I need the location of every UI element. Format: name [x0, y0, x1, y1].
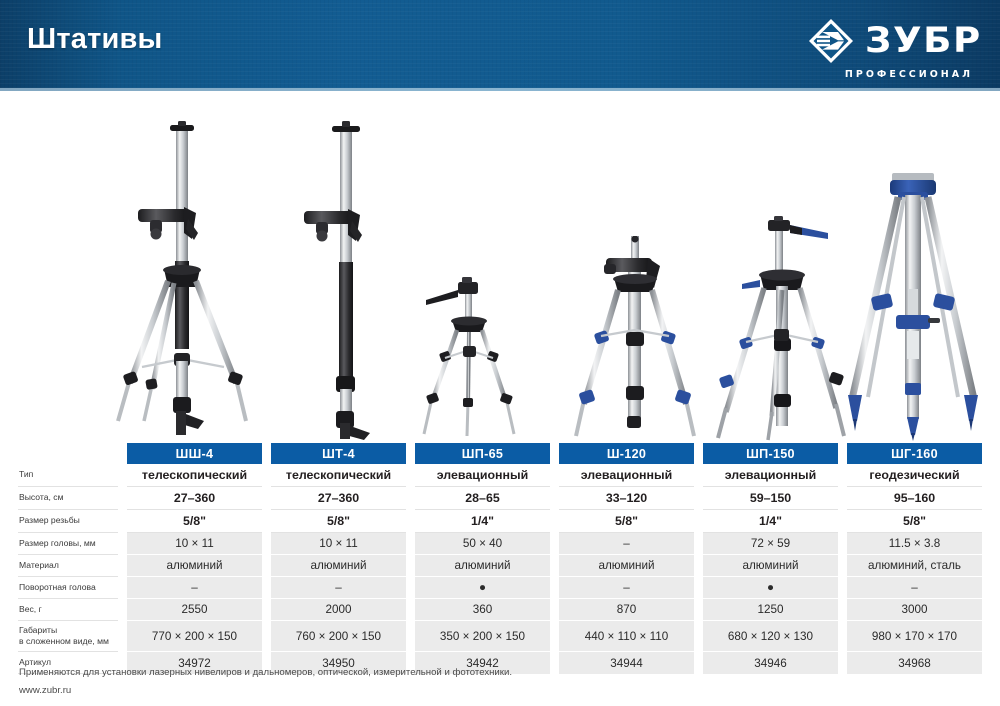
- cell-height-2: 28–65: [415, 487, 550, 510]
- cell-folded-4: 680 × 120 × 130: [703, 621, 838, 652]
- cell-height-3: 33–120: [559, 487, 694, 510]
- cell-thread-2: 1/4": [415, 510, 550, 533]
- cell-folded-0: 770 × 200 × 150: [127, 621, 262, 652]
- header-corner-blank: [18, 443, 118, 464]
- table-row-type: Тип телескопический телескопический элев…: [18, 464, 982, 487]
- cell-weight-5: 3000: [847, 599, 982, 621]
- cell-type-1: телескопический: [271, 464, 406, 487]
- cell-type-0: телескопический: [127, 464, 262, 487]
- cell-rothead-4: ●: [703, 577, 838, 599]
- cell-material-1: алюминий: [271, 555, 406, 577]
- footer-url[interactable]: www.zubr.ru: [19, 682, 959, 700]
- product-image-shp150: [716, 216, 846, 441]
- brand-logo: ЗУБР ПРОФЕССИОНАЛ: [808, 18, 975, 80]
- cell-headsize-0: 10 × 11: [127, 533, 262, 555]
- footer: Применяются для установки лазерных нивел…: [19, 664, 959, 700]
- cell-height-4: 59–150: [703, 487, 838, 510]
- page-title: Штативы: [27, 23, 163, 56]
- logo-tagline: ПРОФЕССИОНАЛ: [845, 69, 973, 80]
- column-header-1[interactable]: ШТ-4: [271, 443, 406, 464]
- table-row-height: Высота, см 27–360 27–360 28–65 33–120 59…: [18, 487, 982, 510]
- cell-material-2: алюминий: [415, 555, 550, 577]
- row-label-type: Тип: [18, 464, 118, 487]
- product-image-shsh4: [112, 121, 252, 441]
- column-header-2[interactable]: ШП-65: [415, 443, 550, 464]
- product-image-strip: [0, 91, 1000, 441]
- row-label-weight: Вес, г: [18, 599, 118, 621]
- product-image-shp65: [418, 276, 524, 441]
- cell-headsize-2: 50 × 40: [415, 533, 550, 555]
- cell-rothead-2: ●: [415, 577, 550, 599]
- logo-wordmark: ЗУБР: [865, 24, 982, 59]
- cell-material-5: алюминий, сталь: [847, 555, 982, 577]
- cell-headsize-4: 72 × 59: [703, 533, 838, 555]
- cell-folded-3: 440 × 110 × 110: [559, 621, 694, 652]
- cell-thread-0: 5/8": [127, 510, 262, 533]
- cell-weight-0: 2550: [127, 599, 262, 621]
- cell-material-4: алюминий: [703, 555, 838, 577]
- row-label-thread-size: Размер резьбы: [18, 510, 118, 533]
- cell-weight-4: 1250: [703, 599, 838, 621]
- table-header-row: ШШ-4 ШТ-4 ШП-65 Ш-120 ШП-150 ШГ-160: [18, 443, 982, 464]
- row-label-material: Материал: [18, 555, 118, 577]
- cell-weight-2: 360: [415, 599, 550, 621]
- cell-rothead-0: –: [127, 577, 262, 599]
- row-label-folded-dimensions: Габариты в сложенном виде, мм: [18, 621, 118, 652]
- cell-headsize-5: 11.5 × 3.8: [847, 533, 982, 555]
- row-label-height: Высота, см: [18, 487, 118, 510]
- product-image-shg160: [838, 169, 988, 441]
- table-row-folded-dimensions: Габариты в сложенном виде, мм 770 × 200 …: [18, 621, 982, 652]
- cell-thread-3: 5/8": [559, 510, 694, 533]
- cell-material-0: алюминий: [127, 555, 262, 577]
- cell-weight-3: 870: [559, 599, 694, 621]
- cell-headsize-1: 10 × 11: [271, 533, 406, 555]
- column-header-4[interactable]: ШП-150: [703, 443, 838, 464]
- cell-type-5: геодезический: [847, 464, 982, 487]
- row-label-head-size: Размер головы, мм: [18, 533, 118, 555]
- column-header-5[interactable]: ШГ-160: [847, 443, 982, 464]
- cell-thread-4: 1/4": [703, 510, 838, 533]
- table-row-thread-size: Размер резьбы 5/8" 5/8" 1/4" 5/8" 1/4" 5…: [18, 510, 982, 533]
- cell-rothead-3: –: [559, 577, 694, 599]
- product-image-sh120: [570, 236, 700, 441]
- column-header-0[interactable]: ШШ-4: [127, 443, 262, 464]
- table-row-material: Материал алюминий алюминий алюминий алюм…: [18, 555, 982, 577]
- cell-rothead-1: –: [271, 577, 406, 599]
- table-row-rotating-head: Поворотная голова – – ● – ● –: [18, 577, 982, 599]
- cell-height-5: 95–160: [847, 487, 982, 510]
- cell-height-1: 27–360: [271, 487, 406, 510]
- cell-type-4: элевационный: [703, 464, 838, 487]
- footer-note: Применяются для установки лазерных нивел…: [19, 664, 959, 682]
- cell-headsize-3: –: [559, 533, 694, 555]
- page-header-banner: Штативы ЗУБР ПРОФЕССИОНАЛ: [0, 0, 1000, 88]
- cell-folded-2: 350 × 200 × 150: [415, 621, 550, 652]
- cell-weight-1: 2000: [271, 599, 406, 621]
- cell-thread-1: 5/8": [271, 510, 406, 533]
- spec-comparison-table: ШШ-4 ШТ-4 ШП-65 Ш-120 ШП-150 ШГ-160 Тип …: [18, 443, 982, 674]
- product-image-sht4: [292, 121, 402, 441]
- zubr-arrow-diamond-icon: [808, 18, 854, 64]
- cell-rothead-5: –: [847, 577, 982, 599]
- cell-folded-5: 980 × 170 × 170: [847, 621, 982, 652]
- column-header-3[interactable]: Ш-120: [559, 443, 694, 464]
- cell-folded-1: 760 × 200 × 150: [271, 621, 406, 652]
- cell-type-3: элевационный: [559, 464, 694, 487]
- row-label-rotating-head: Поворотная голова: [18, 577, 118, 599]
- table-row-head-size: Размер головы, мм 10 × 11 10 × 11 50 × 4…: [18, 533, 982, 555]
- table-row-weight: Вес, г 2550 2000 360 870 1250 3000: [18, 599, 982, 621]
- cell-material-3: алюминий: [559, 555, 694, 577]
- row-label-folded-dimensions-line2: в сложенном виде, мм: [19, 636, 109, 647]
- cell-thread-5: 5/8": [847, 510, 982, 533]
- cell-type-2: элевационный: [415, 464, 550, 487]
- cell-height-0: 27–360: [127, 487, 262, 510]
- row-label-folded-dimensions-line1: Габариты: [19, 625, 109, 636]
